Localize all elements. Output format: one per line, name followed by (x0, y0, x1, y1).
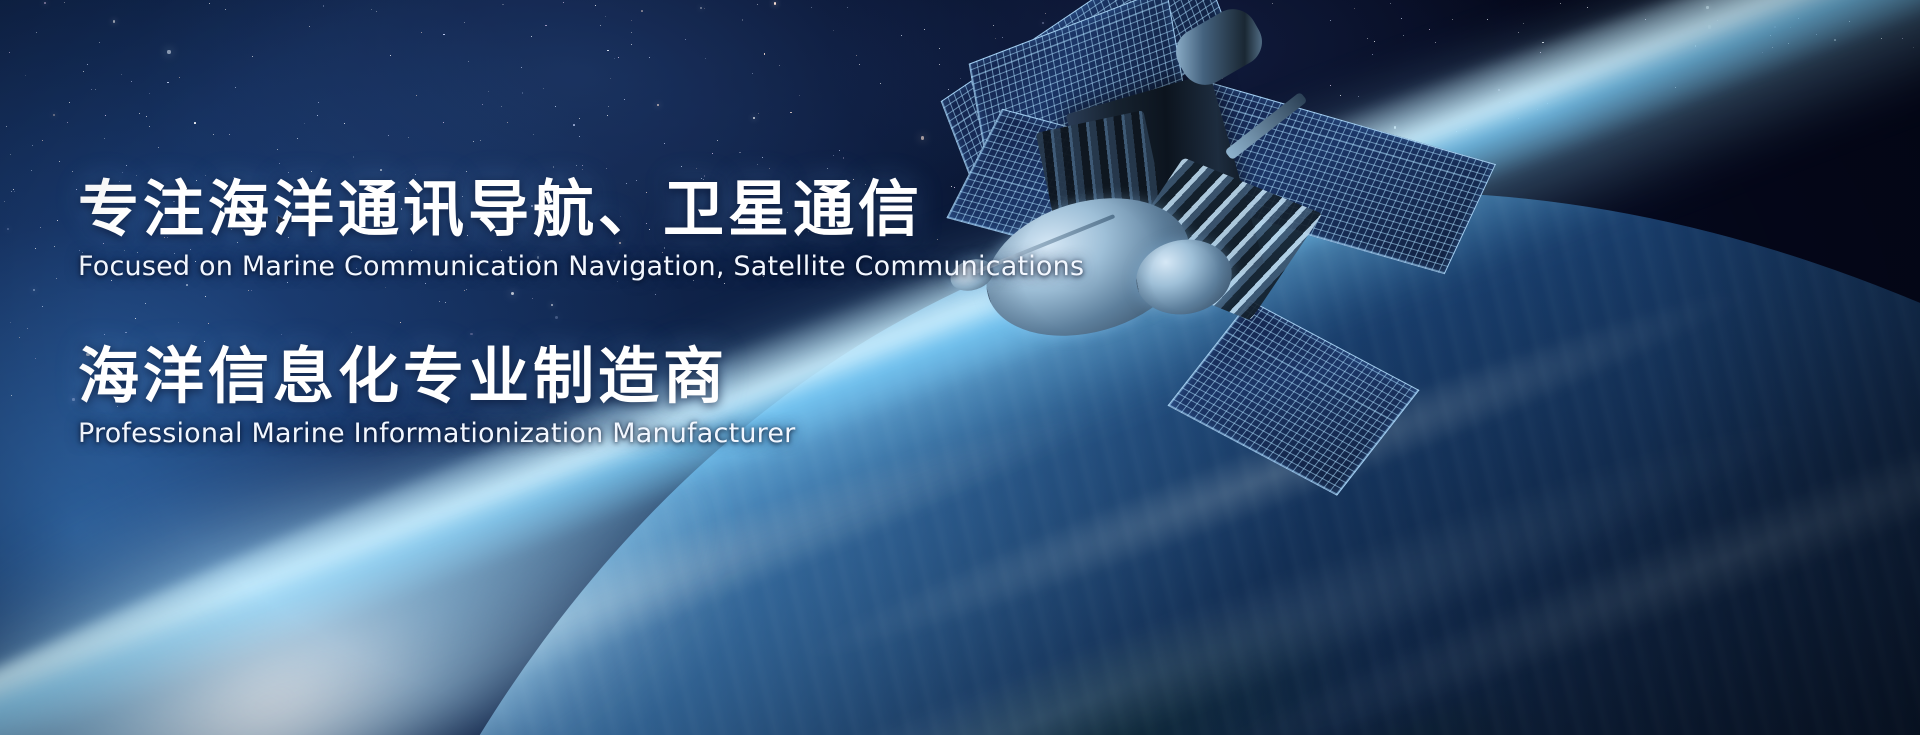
headline-block-2: 海洋信息化专业制造商 Professional Marine Informati… (78, 345, 1138, 450)
headline-en-2: Professional Marine Informationization M… (78, 418, 1138, 450)
headline-cn-1: 专注海洋通讯导航、卫星通信 (78, 178, 1138, 242)
solar-panel-array-lower-right (1167, 300, 1419, 496)
headline-block-1: 专注海洋通讯导航、卫星通信 Focused on Marine Communic… (78, 178, 1138, 283)
mouse-cursor (278, 216, 285, 224)
hero-banner: 专注海洋通讯导航、卫星通信 Focused on Marine Communic… (0, 0, 1920, 735)
headline-en-1: Focused on Marine Communication Navigati… (78, 251, 1138, 283)
hero-copy: 专注海洋通讯导航、卫星通信 Focused on Marine Communic… (78, 178, 1138, 451)
headline-cn-2: 海洋信息化专业制造商 (78, 345, 1138, 409)
